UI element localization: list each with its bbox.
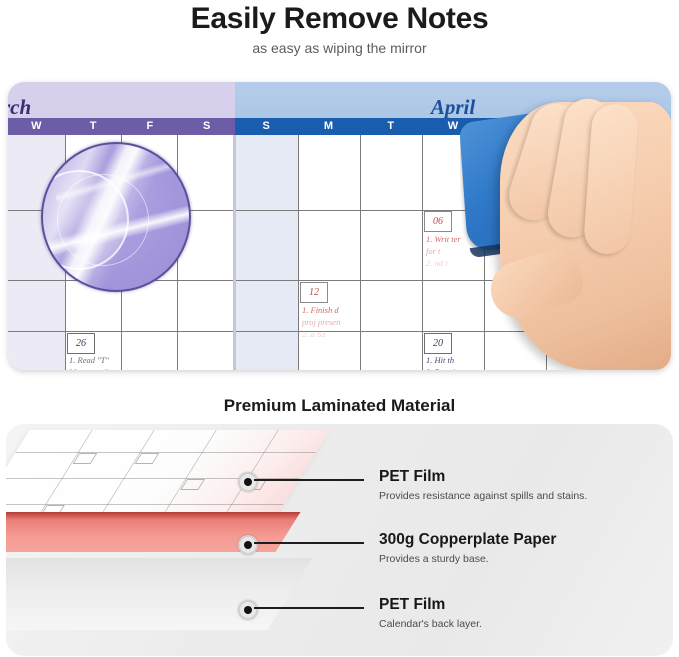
- weekday-cell: M: [297, 118, 359, 135]
- laminate-diagram: PET Film Provides resistance against spi…: [6, 424, 673, 656]
- callout-dot-icon: [238, 535, 258, 555]
- page-title: Easily Remove Notes: [0, 2, 679, 36]
- page-subtitle: as easy as wiping the mirror: [0, 40, 679, 56]
- handwritten-note: Mon o sea": [69, 367, 108, 370]
- handwritten-note: 2. nd t: [426, 258, 448, 269]
- layer-pet-film-back: [6, 558, 312, 630]
- handwritten-note: 2. a Sa: [302, 329, 325, 340]
- grid-column: [360, 135, 423, 370]
- callout-description: Provides a sturdy base.: [379, 553, 489, 565]
- material-section-title: Premium Laminated Material: [0, 396, 679, 416]
- callout-dot-icon: [238, 600, 258, 620]
- callout-lead-line: [254, 479, 364, 481]
- date-cell-26: 26: [67, 333, 95, 354]
- callout-title: PET Film: [379, 468, 445, 486]
- callout-dot-center-icon: [244, 478, 252, 486]
- weekday-strip-march: W T F S: [8, 118, 235, 135]
- handwritten-note: 1. Hit th: [426, 355, 454, 366]
- weekday-cell: T: [65, 118, 122, 135]
- callout-dot-center-icon: [244, 541, 252, 549]
- grid-line: [15, 452, 316, 453]
- handwritten-note: 1. Finish d: [302, 305, 339, 316]
- callout-dot-icon: [238, 472, 258, 492]
- weekday-cell: S: [235, 118, 297, 135]
- date-cell-06: 06: [424, 211, 452, 232]
- handwritten-note: 1. Read "T": [69, 355, 109, 366]
- weekday-cell: S: [178, 118, 235, 135]
- handwritten-note: 2. Bus rip: [426, 367, 459, 370]
- weekday-cell: W: [8, 118, 65, 135]
- callout-title: 300g Copperplate Paper: [379, 531, 556, 549]
- weekday-cell: F: [122, 118, 179, 135]
- handwritten-note: 1. Writ ter: [426, 234, 461, 245]
- callout-lead-line: [254, 542, 364, 544]
- callout-title: PET Film: [379, 596, 445, 614]
- callout-description: Provides resistance against spills and s…: [379, 490, 587, 502]
- date-cell-12: 12: [300, 282, 328, 303]
- date-cell-20: 20: [424, 333, 452, 354]
- callout-description: Calendar's back layer.: [379, 618, 482, 630]
- weekday-cell: T: [360, 118, 422, 135]
- calendar-photo: rch April W T F S S M T W T F S: [8, 82, 671, 370]
- callout-lead-line: [254, 607, 364, 609]
- callout-dot-center-icon: [244, 606, 252, 614]
- handwritten-note: proj presen: [302, 317, 340, 328]
- month-label-march: rch: [8, 95, 31, 120]
- handwritten-note: for t: [426, 246, 440, 257]
- month-divider: [233, 135, 236, 370]
- grid-column: [236, 135, 299, 370]
- magnifier-lens: [41, 142, 191, 292]
- calendar-inner: rch April W T F S S M T W T F S: [8, 82, 671, 370]
- hand-with-eraser: [460, 88, 671, 370]
- grid-column: [177, 135, 234, 370]
